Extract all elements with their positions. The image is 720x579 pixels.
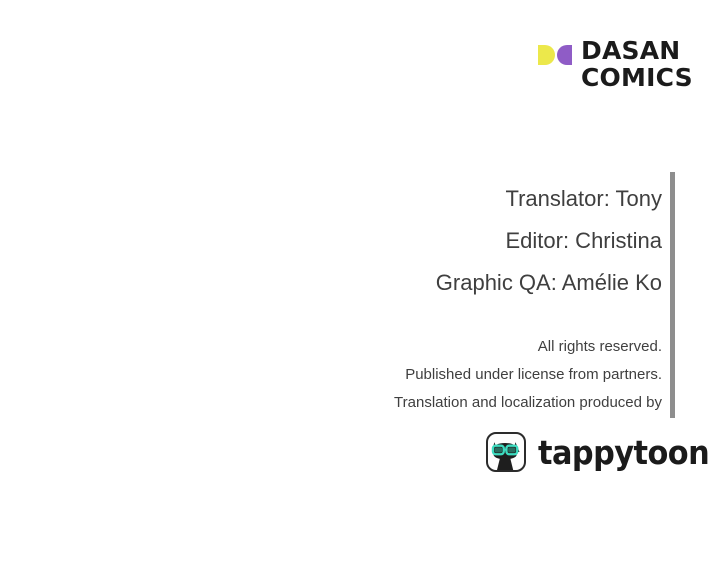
dasan-mark-purple-shape: [557, 45, 572, 65]
credits-block: Translator: Tony Editor: Christina Graph…: [242, 178, 662, 304]
credit-line-translator: Translator: Tony: [242, 178, 662, 220]
legal-line-production: Translation and localization produced by: [202, 389, 662, 417]
credits-page: DASAN COMICS Translator: Tony Editor: Ch…: [0, 0, 720, 579]
tappytoon-wordmark: tappytoon: [538, 436, 709, 469]
legal-line-rights: All rights reserved.: [202, 333, 662, 361]
tappytoon-logo: tappytoon: [486, 432, 720, 472]
credits-vertical-rule: [670, 172, 675, 418]
credit-line-graphic-qa: Graphic QA: Amélie Ko: [242, 262, 662, 304]
publisher-name-line2: COMICS: [581, 64, 693, 91]
legal-line-license: Published under license from partners.: [202, 361, 662, 389]
dasan-logo-mark-icon: [538, 44, 572, 66]
tappytoon-cat-icon: [486, 432, 526, 472]
publisher-wordmark: DASAN COMICS: [581, 38, 693, 91]
publisher-logo: DASAN COMICS: [538, 38, 693, 91]
legal-block: All rights reserved. Published under lic…: [202, 333, 662, 417]
credit-line-editor: Editor: Christina: [242, 220, 662, 262]
dasan-mark-yellow-shape: [538, 45, 555, 65]
publisher-name-line1: DASAN: [581, 38, 693, 64]
